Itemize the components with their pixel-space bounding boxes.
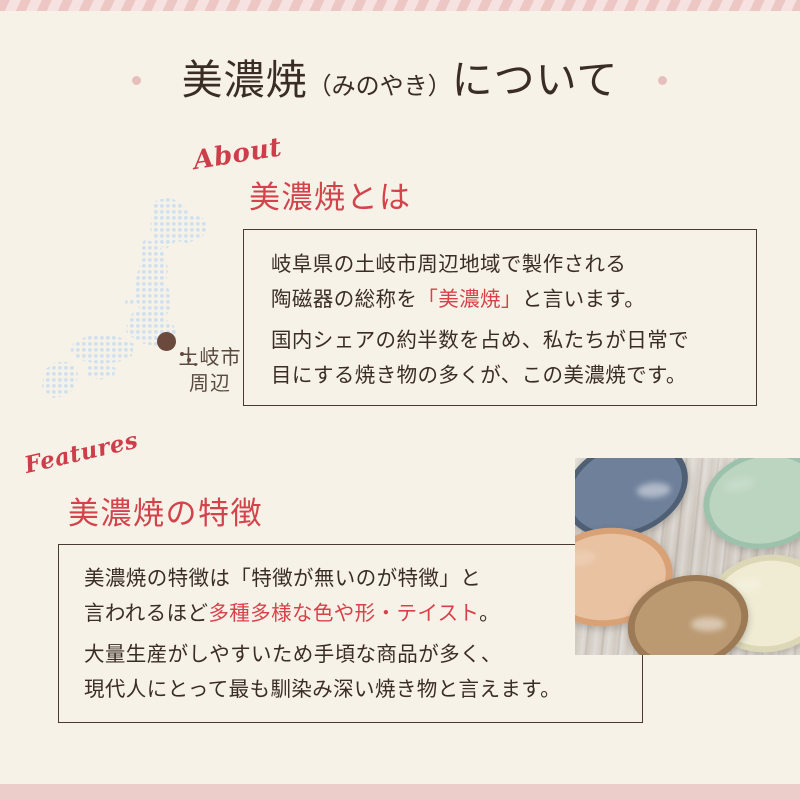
features-paragraph-2: 大量生産がしやすいため手頃な商品が多く、 現代人にとって最も馴染み深い焼き物と言… [84,637,561,707]
line-text: 。 [479,601,500,625]
line-text-highlight: 多種多様な色や形・テイスト [208,601,479,625]
line-text: 岐阜県の土岐市周辺地域で製作される [271,252,626,276]
page-title-kana: （みのやき） [308,72,452,100]
line-text: 現代人にとって最も馴染み深い焼き物と言えます。 [84,677,561,701]
line-text: 美濃焼の特徴は「特徴が無いのが特徴」と [84,566,481,590]
top-stripe-band [0,0,800,11]
line-text: 目にする焼き物の多くが、この美濃焼です。 [271,363,687,387]
section-features-heading: 美濃焼の特徴 [68,494,263,534]
line-text-highlight: 「美濃焼」 [417,287,522,311]
title-dot-right-icon [658,76,667,85]
mino-ware-plates-photo [575,458,800,655]
infographic-page: 美濃焼（みのやき）について About 美濃焼とは [0,0,800,800]
features-paragraph-1: 美濃焼の特徴は「特徴が無いのが特徴」と 言われるほど多種多様な色や形・テイスト。 [84,561,500,631]
page-title-tail: について [452,56,619,104]
about-paragraph-1: 岐阜県の土岐市周辺地域で製作される 陶磁器の総称を「美濃焼」と言います。 [271,247,645,317]
line-text: 言われるほど [84,601,208,625]
section-features-script-label: Features [22,427,141,479]
section-about-script-label: About [191,132,284,176]
section-about-heading: 美濃焼とは [249,178,412,218]
title-dot-left-icon [132,76,141,85]
bottom-color-band [0,784,800,800]
about-text-box: 岐阜県の土岐市周辺地域で製作される 陶磁器の総称を「美濃焼」と言います。 国内シ… [243,229,757,406]
line-text: 陶磁器の総称を [271,287,417,311]
line-text: と言います。 [522,287,645,311]
page-title-main: 美濃焼 [182,56,308,104]
line-text: 国内シェアの約半数を占め、私たちが日常で [271,328,689,352]
line-text: 大量生産がしやすいため手頃な商品が多く、 [84,642,502,666]
about-paragraph-2: 国内シェアの約半数を占め、私たちが日常で 目にする焼き物の多くが、この美濃焼です… [271,323,689,393]
features-text-box: 美濃焼の特徴は「特徴が無いのが特徴」と 言われるほど多種多様な色や形・テイスト。… [58,544,643,723]
page-title: 美濃焼（みのやき）について [0,48,800,118]
